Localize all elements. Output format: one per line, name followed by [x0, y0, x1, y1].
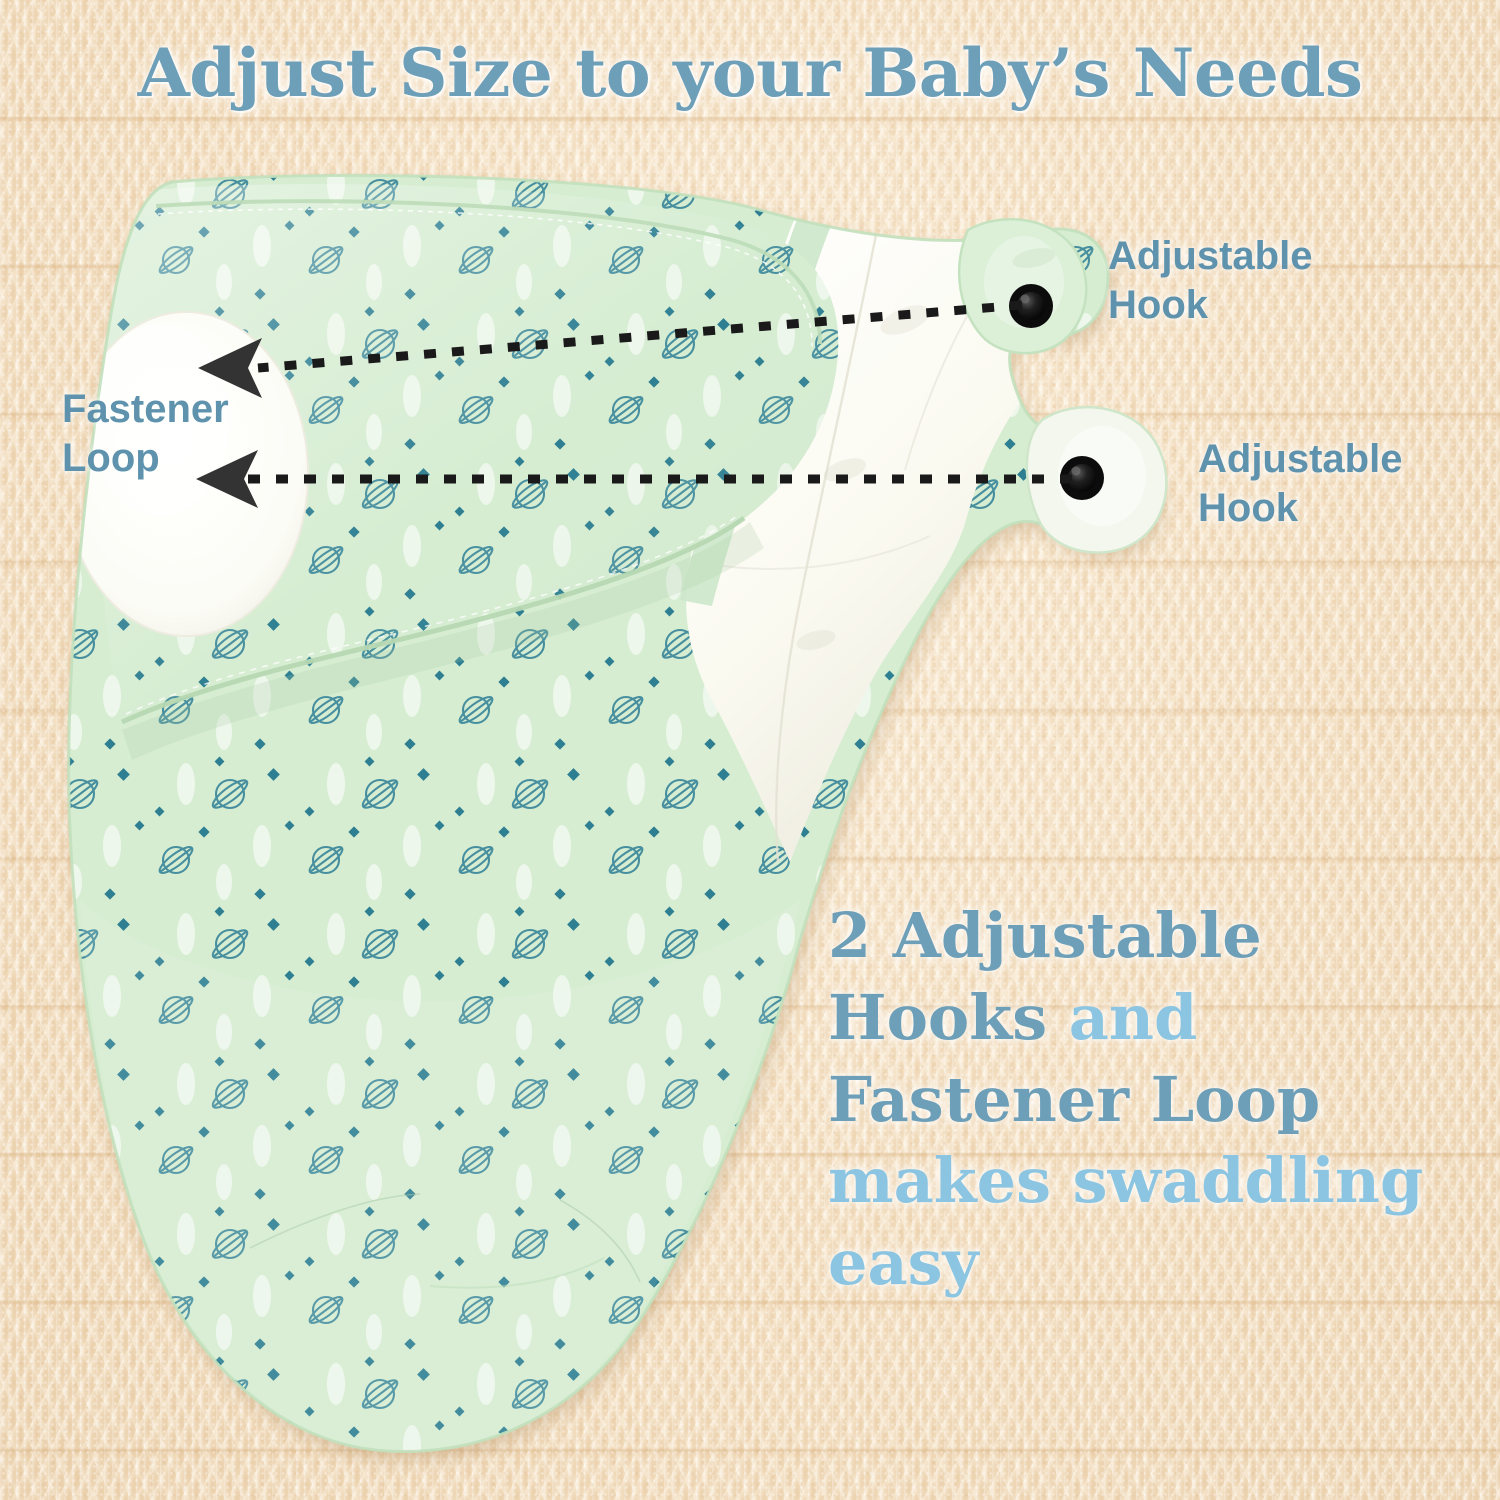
- callout-line-1: Adjustable: [1108, 232, 1312, 281]
- infographic-canvas: Adjust Size to your Baby’s Needs Adjusta…: [0, 0, 1500, 1500]
- callout-line-2: Hook: [1198, 484, 1402, 533]
- callout-adjustable-hook-top: Adjustable Hook: [1108, 232, 1312, 330]
- page-title: Adjust Size to your Baby’s Needs: [0, 34, 1500, 112]
- hook-snap-top: [1009, 284, 1053, 328]
- callout-line-1: Adjustable: [1198, 435, 1402, 484]
- callout-adjustable-hook-bottom: Adjustable Hook: [1198, 435, 1402, 533]
- callout-line-1: Fastener: [62, 385, 229, 434]
- blurb-segment-and: and: [1069, 981, 1198, 1054]
- callout-line-2: Loop: [62, 434, 229, 483]
- callout-fastener-loop: Fastener Loop: [62, 385, 229, 483]
- blurb-segment-tail: makes swaddling easy: [828, 1144, 1423, 1299]
- blurb-segment-loop: Fastener Loop: [828, 1063, 1320, 1136]
- hook-snap-bottom: [1060, 456, 1104, 500]
- callout-line-2: Hook: [1108, 281, 1312, 330]
- feature-blurb: 2 Adjustable Hooks and Fastener Loop mak…: [828, 895, 1468, 1304]
